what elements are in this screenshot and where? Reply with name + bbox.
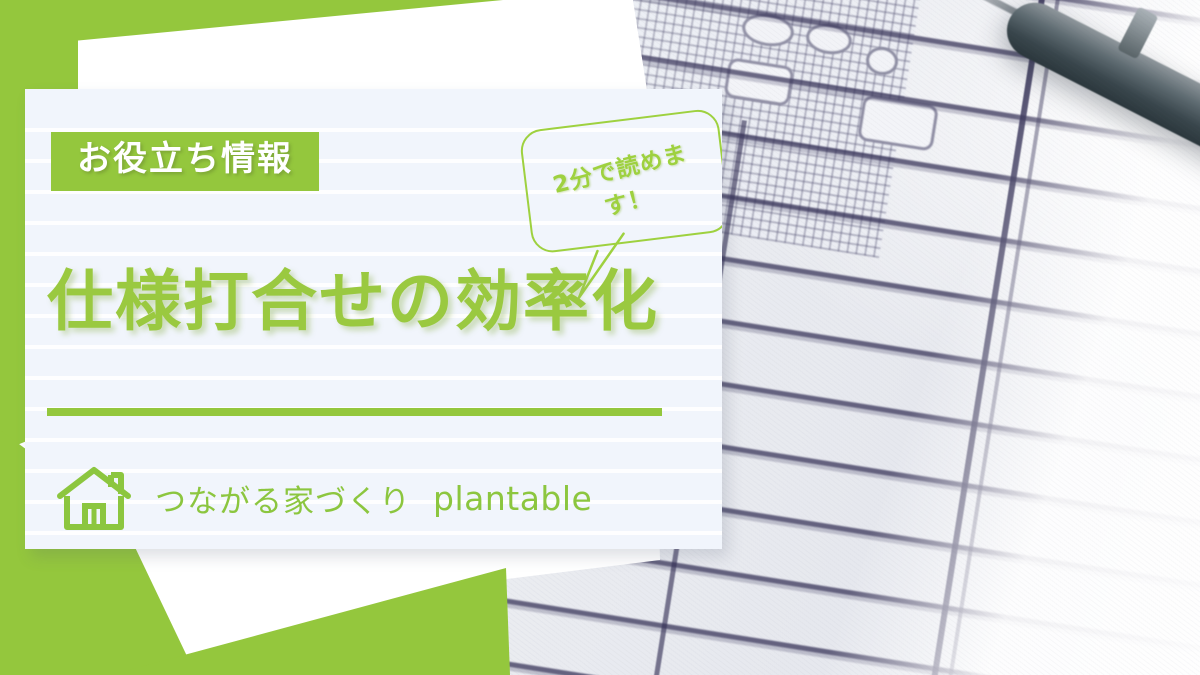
brand-name: plantable	[433, 479, 592, 518]
section-divider	[47, 408, 662, 416]
category-badge-label: お役立ち情報	[77, 139, 293, 179]
category-badge[interactable]: お役立ち情報	[51, 132, 319, 191]
house-icon	[55, 464, 133, 532]
thumbnail-canvas: お役立ち情報 2分で読めます！ 仕様打合せの効率化	[0, 0, 1200, 675]
content-card: お役立ち情報 2分で読めます！ 仕様打合せの効率化	[25, 89, 722, 549]
card-inner: お役立ち情報 2分で読めます！ 仕様打合せの効率化	[25, 89, 722, 549]
brand-logo[interactable]: つながる家づくり plantable	[55, 464, 592, 532]
brand-tagline: つながる家づくり	[155, 476, 411, 521]
page-title: 仕様打合せの効率化	[47, 264, 707, 340]
